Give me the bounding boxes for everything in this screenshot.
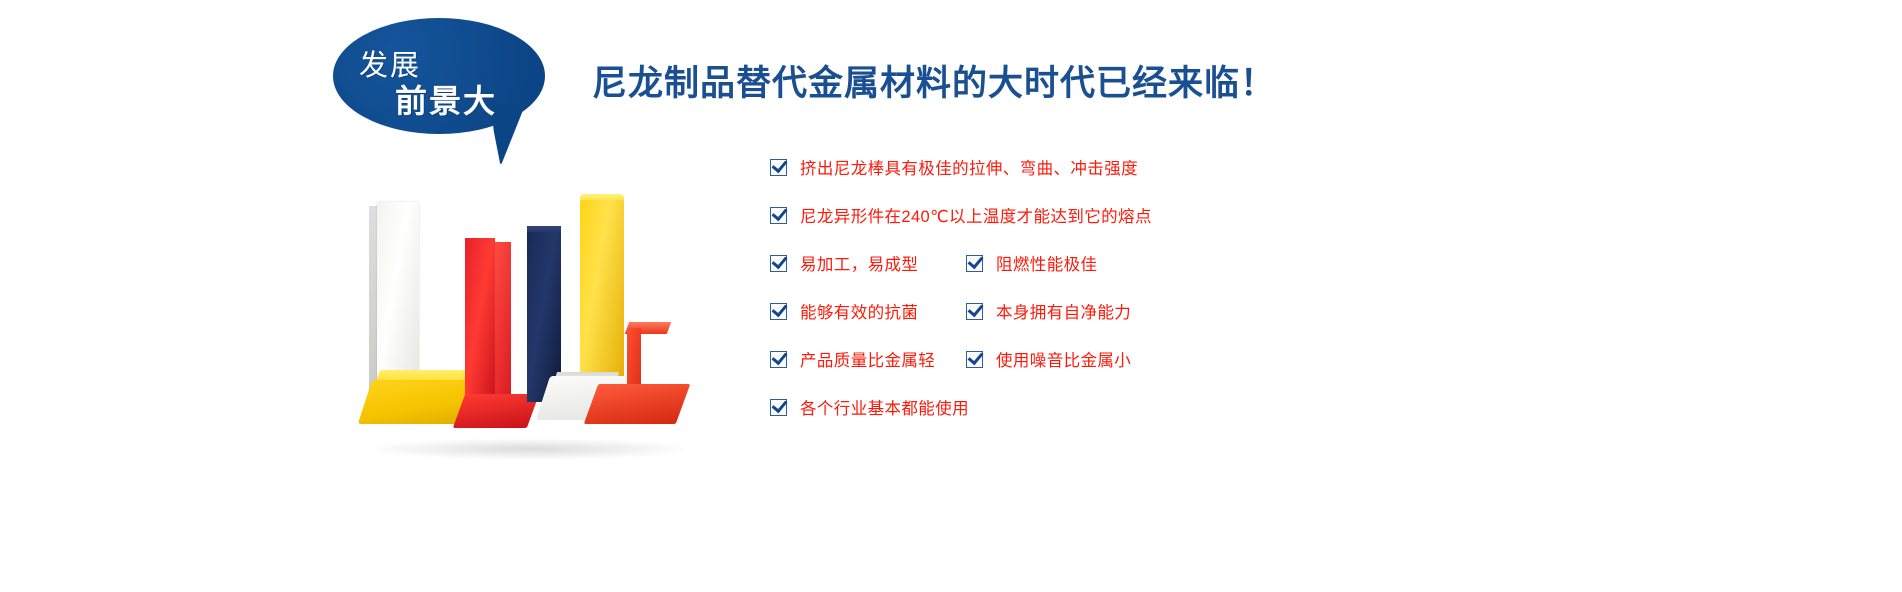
feature-item: 阻燃性能极佳 [966,251,1097,275]
feature-label: 使用噪音比金属小 [996,347,1131,371]
checkbox-checked-icon [966,303,983,320]
red-tall-angle-face [495,242,511,418]
feature-label: 阻燃性能极佳 [996,251,1097,275]
feature-label: 各个行业基本都能使用 [800,395,969,419]
feature-label: 挤出尼龙棒具有极佳的拉伸、弯曲、冲击强度 [800,155,1138,179]
feature-item: 各个行业基本都能使用 [770,395,969,419]
product-image [355,180,705,470]
feature-row: 尼龙异形件在240℃以上温度才能达到它的熔点 [770,203,1470,251]
checkbox-checked-icon [770,255,787,272]
feature-item: 挤出尼龙棒具有极佳的拉伸、弯曲、冲击强度 [770,155,1138,179]
feature-item: 产品质量比金属轻 [770,347,935,371]
feature-row: 各个行业基本都能使用 [770,395,1470,443]
orange-angle-base [584,384,691,424]
promo-banner: 发展 前景大 尼龙制品替代金属材料的大时代已经来临！ 挤出尼龙棒具有极佳的拉伸、… [0,0,1902,592]
checkbox-checked-icon [770,399,787,416]
product-shadow [365,438,695,460]
feature-item: 尼龙异形件在240℃以上温度才能达到它的熔点 [770,203,1152,227]
feature-label: 能够有效的抗菌 [800,299,918,323]
feature-row: 易加工，易成型 阻燃性能极佳 [770,251,1470,299]
checkbox-checked-icon [770,303,787,320]
feature-label: 产品质量比金属轻 [800,347,935,371]
feature-label: 尼龙异形件在240℃以上温度才能达到它的熔点 [800,203,1152,227]
feature-row: 挤出尼龙棒具有极佳的拉伸、弯曲、冲击强度 [770,155,1470,203]
checkbox-checked-icon [966,351,983,368]
speech-bubble: 发展 前景大 [333,18,549,158]
checkbox-checked-icon [770,159,787,176]
feature-row: 能够有效的抗菌 本身拥有自净能力 [770,299,1470,347]
feature-item: 本身拥有自净能力 [966,299,1131,323]
feature-item: 易加工，易成型 [770,251,918,275]
speech-bubble-line2: 前景大 [395,76,497,122]
feature-row: 产品质量比金属轻 使用噪音比金属小 [770,347,1470,395]
feature-item: 能够有效的抗菌 [770,299,918,323]
feature-label: 易加工，易成型 [800,251,918,275]
feature-list: 挤出尼龙棒具有极佳的拉伸、弯曲、冲击强度 尼龙异形件在240℃以上温度才能达到它… [770,155,1470,443]
checkbox-checked-icon [770,207,787,224]
feature-label: 本身拥有自净能力 [996,299,1131,323]
page-title: 尼龙制品替代金属材料的大时代已经来临！ [592,55,1276,106]
yellow-tall-channel [580,200,624,400]
red-tall-angle [465,238,495,418]
feature-item: 使用噪音比金属小 [966,347,1131,371]
checkbox-checked-icon [966,255,983,272]
checkbox-checked-icon [770,351,787,368]
